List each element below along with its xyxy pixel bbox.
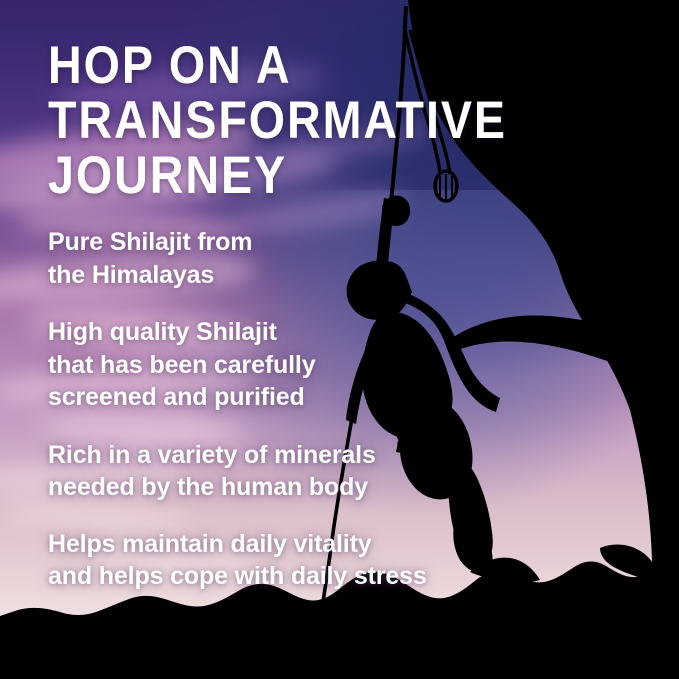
promo-poster: Hop on a Transformative Journey Pure Shi…	[0, 0, 679, 679]
climbing-scene-illustration	[0, 0, 679, 679]
sling-strands	[440, 174, 452, 200]
rocky-ridge-silhouette	[0, 556, 679, 679]
